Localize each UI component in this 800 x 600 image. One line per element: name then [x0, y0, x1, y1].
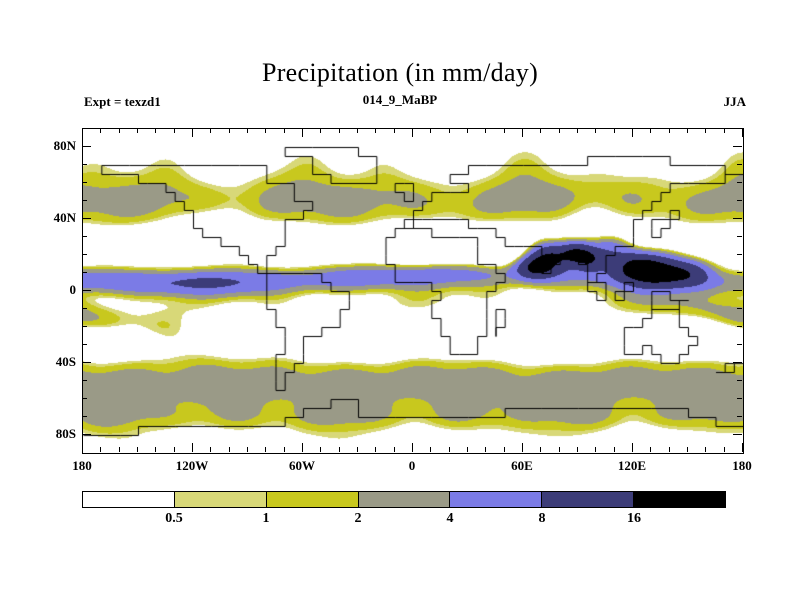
x-axis-minor-tick [100, 128, 101, 133]
y-axis-major-tick [733, 362, 742, 363]
x-axis-minor-tick [229, 447, 230, 452]
x-axis-minor-tick [320, 447, 321, 452]
x-axis-minor-tick [155, 447, 156, 452]
x-axis-minor-tick [724, 128, 725, 133]
x-axis-tick-label: 0 [409, 458, 416, 474]
y-axis-major-tick [82, 434, 91, 435]
colorbar-band [266, 492, 358, 507]
x-axis-minor-tick [614, 128, 615, 133]
colorbar-band [83, 492, 174, 507]
x-axis-minor-tick [669, 128, 670, 133]
x-axis-minor-tick [210, 447, 211, 452]
x-axis-minor-tick [394, 447, 395, 452]
x-axis-major-tick [632, 128, 633, 137]
x-axis-major-tick [522, 443, 523, 452]
y-axis-major-tick [82, 146, 91, 147]
colorbar-tick-label: 16 [627, 511, 641, 527]
x-axis-minor-tick [687, 447, 688, 452]
x-axis-minor-tick [339, 447, 340, 452]
y-axis-minor-tick [737, 254, 742, 255]
y-axis-minor-tick [82, 200, 87, 201]
x-axis-tick-label: 60E [511, 458, 533, 474]
y-axis-major-tick [733, 146, 742, 147]
precipitation-map-canvas [83, 129, 743, 453]
x-axis-minor-tick [265, 447, 266, 452]
y-axis-minor-tick [82, 236, 87, 237]
y-axis-tick-label: 40N [54, 210, 76, 226]
x-axis-minor-tick [137, 128, 138, 133]
x-axis-minor-tick [320, 128, 321, 133]
colorbar [82, 491, 726, 508]
x-axis-major-tick [632, 443, 633, 452]
x-axis-minor-tick [705, 447, 706, 452]
x-axis-tick-label: 120W [176, 458, 209, 474]
x-axis-major-tick [742, 128, 743, 137]
y-axis-minor-tick [82, 254, 87, 255]
x-axis-minor-tick [504, 447, 505, 452]
y-axis-tick-label: 80S [56, 426, 76, 442]
x-axis-major-tick [192, 128, 193, 137]
x-axis-minor-tick [687, 128, 688, 133]
season-label: JJA [724, 94, 746, 110]
x-axis-minor-tick [284, 447, 285, 452]
colorbar-tick-label: 8 [539, 511, 546, 527]
y-axis-minor-tick [737, 164, 742, 165]
x-axis-minor-tick [339, 128, 340, 133]
x-axis-minor-tick [430, 447, 431, 452]
y-axis-minor-tick [737, 236, 742, 237]
y-axis-minor-tick [82, 308, 87, 309]
map-plot-area [82, 128, 744, 454]
y-axis-major-tick [82, 362, 91, 363]
x-axis-minor-tick [540, 128, 541, 133]
y-axis-tick-label: 40S [56, 354, 76, 370]
y-axis-major-tick [733, 218, 742, 219]
x-axis-minor-tick [357, 447, 358, 452]
y-axis-minor-tick [82, 380, 87, 381]
x-axis-minor-tick [467, 128, 468, 133]
x-axis-tick-label: 180 [732, 458, 752, 474]
x-axis-minor-tick [559, 447, 560, 452]
x-axis-minor-tick [504, 128, 505, 133]
x-axis-major-tick [412, 443, 413, 452]
colorbar-tick-label: 2 [355, 511, 362, 527]
y-axis-major-tick [733, 290, 742, 291]
x-axis-major-tick [82, 443, 83, 452]
x-axis-minor-tick [430, 128, 431, 133]
x-axis-minor-tick [100, 447, 101, 452]
x-axis-minor-tick [669, 447, 670, 452]
x-axis-tick-label: 120E [618, 458, 646, 474]
x-axis-major-tick [412, 128, 413, 137]
page-title: Precipitation (in mm/day) [0, 58, 800, 88]
colorbar-band [358, 492, 450, 507]
x-axis-minor-tick [247, 128, 248, 133]
colorbar-tick-label: 0.5 [165, 511, 183, 527]
y-axis-minor-tick [737, 182, 742, 183]
colorbar-tick-label: 1 [263, 511, 270, 527]
x-axis-minor-tick [724, 447, 725, 452]
y-axis-minor-tick [737, 398, 742, 399]
y-axis-minor-tick [737, 326, 742, 327]
x-axis-minor-tick [595, 447, 596, 452]
x-axis-minor-tick [265, 128, 266, 133]
y-axis-tick-label: 0 [70, 282, 77, 298]
x-axis-minor-tick [449, 128, 450, 133]
x-axis-minor-tick [540, 447, 541, 452]
x-axis-tick-label: 180 [72, 458, 92, 474]
x-axis-minor-tick [229, 128, 230, 133]
x-axis-minor-tick [119, 447, 120, 452]
colorbar-band [174, 492, 266, 507]
x-axis-minor-tick [650, 128, 651, 133]
x-axis-major-tick [302, 443, 303, 452]
x-axis-major-tick [522, 128, 523, 137]
x-axis-major-tick [302, 128, 303, 137]
x-axis-minor-tick [577, 128, 578, 133]
y-axis-minor-tick [82, 326, 87, 327]
y-axis-minor-tick [82, 344, 87, 345]
x-axis-major-tick [192, 443, 193, 452]
y-axis-major-tick [733, 434, 742, 435]
colorbar-band [633, 492, 725, 507]
x-axis-minor-tick [210, 128, 211, 133]
y-axis-minor-tick [82, 416, 87, 417]
y-axis-minor-tick [82, 164, 87, 165]
y-axis-major-tick [82, 218, 91, 219]
y-axis-minor-tick [737, 380, 742, 381]
x-axis-minor-tick [705, 128, 706, 133]
experiment-label: Expt = texzd1 [84, 94, 161, 110]
x-axis-minor-tick [284, 128, 285, 133]
x-axis-tick-label: 60W [289, 458, 315, 474]
y-axis-minor-tick [82, 182, 87, 183]
y-axis-minor-tick [737, 200, 742, 201]
x-axis-minor-tick [394, 128, 395, 133]
x-axis-minor-tick [559, 128, 560, 133]
x-axis-minor-tick [650, 447, 651, 452]
x-axis-minor-tick [375, 128, 376, 133]
x-axis-major-tick [742, 443, 743, 452]
x-axis-minor-tick [375, 447, 376, 452]
y-axis-minor-tick [737, 416, 742, 417]
colorbar-band [541, 492, 633, 507]
x-axis-minor-tick [155, 128, 156, 133]
x-axis-minor-tick [467, 447, 468, 452]
x-axis-minor-tick [137, 447, 138, 452]
x-axis-minor-tick [119, 128, 120, 133]
x-axis-minor-tick [485, 128, 486, 133]
y-axis-tick-label: 80N [54, 138, 76, 154]
y-axis-minor-tick [737, 344, 742, 345]
x-axis-minor-tick [614, 447, 615, 452]
y-axis-minor-tick [737, 308, 742, 309]
x-axis-minor-tick [357, 128, 358, 133]
y-axis-minor-tick [82, 272, 87, 273]
x-axis-major-tick [82, 128, 83, 137]
colorbar-tick-label: 4 [447, 511, 454, 527]
y-axis-minor-tick [82, 398, 87, 399]
y-axis-minor-tick [737, 272, 742, 273]
x-axis-minor-tick [485, 447, 486, 452]
x-axis-minor-tick [449, 447, 450, 452]
x-axis-minor-tick [577, 447, 578, 452]
colorbar-band [449, 492, 541, 507]
y-axis-major-tick [82, 290, 91, 291]
x-axis-minor-tick [174, 128, 175, 133]
x-axis-minor-tick [247, 447, 248, 452]
x-axis-minor-tick [174, 447, 175, 452]
x-axis-minor-tick [595, 128, 596, 133]
